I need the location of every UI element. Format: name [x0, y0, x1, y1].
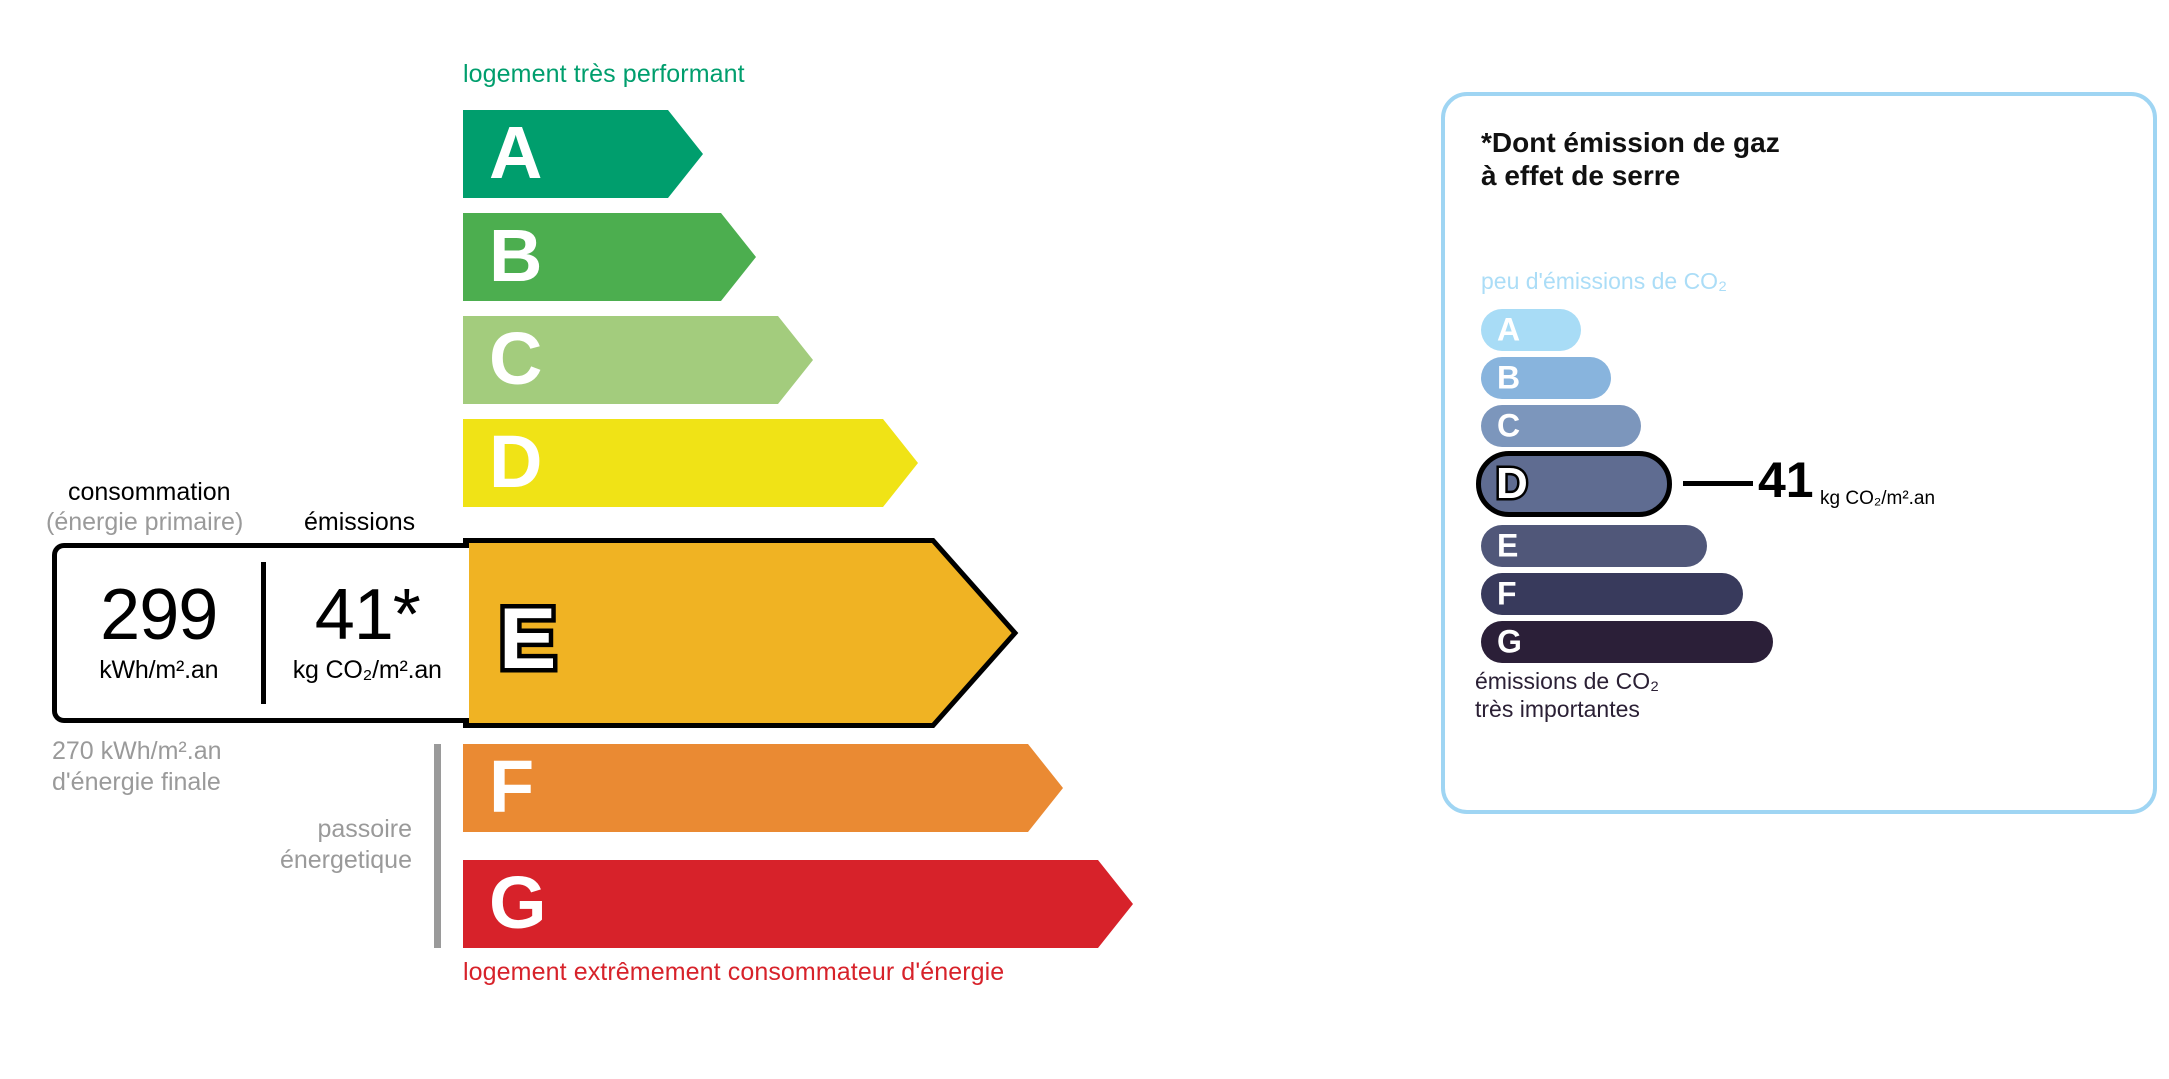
- passoire-vertical-rule: [434, 744, 441, 948]
- co2-band-b-letter: B: [1497, 360, 1520, 397]
- energy-band-b-shape: B: [463, 213, 756, 301]
- co2-band-c: C: [1481, 405, 1641, 447]
- emissions-label: émissions: [304, 508, 415, 537]
- energy-band-c: C: [463, 316, 813, 404]
- co2-value: 41: [1758, 455, 1814, 505]
- energy-band-b: B: [463, 213, 756, 301]
- passoire-line-2: énergetique: [180, 845, 412, 876]
- energy-band-d-shape: D: [463, 419, 918, 507]
- energy-band-b-letter: B: [489, 214, 542, 297]
- co2-band-a: A: [1481, 309, 1581, 351]
- consumption-value: 299: [100, 581, 217, 650]
- co2-band-a-letter: A: [1497, 312, 1520, 349]
- co2-top-caption: peu d'émissions de CO₂: [1481, 268, 1727, 295]
- emissions-value: 41*: [315, 581, 420, 650]
- co2-panel: *Dont émission de gaz à effet de serre p…: [1441, 92, 2157, 814]
- energy-band-a: A: [463, 110, 703, 198]
- final-energy-note: 270 kWh/m².an d'énergie finale: [52, 736, 222, 797]
- energy-band-f-letter: F: [489, 745, 534, 828]
- co2-bottom-caption: émissions de CO₂ très importantes: [1475, 668, 1659, 723]
- co2-band-e: E: [1481, 525, 1707, 567]
- co2-band-f: F: [1481, 573, 1743, 615]
- co2-band-f-bar: [1481, 573, 1743, 615]
- co2-panel-title: *Dont émission de gaz à effet de serre: [1481, 126, 1780, 192]
- co2-band-c-letter: C: [1497, 408, 1520, 445]
- energy-band-d-letter: D: [489, 420, 542, 503]
- energy-top-caption: logement très performant: [463, 60, 745, 89]
- co2-band-b: B: [1481, 357, 1611, 399]
- energy-band-g: G: [463, 860, 1133, 948]
- energy-performance-chart: logement très performant A B C D E: [0, 0, 1400, 1079]
- energy-band-e-selected: E: [463, 538, 1018, 728]
- consumption-sublabel: (énergie primaire): [46, 508, 243, 537]
- co2-title-line-2: à effet de serre: [1481, 159, 1780, 192]
- energy-band-g-shape: G: [463, 860, 1133, 948]
- energy-band-f: F: [463, 744, 1063, 832]
- emissions-value-cell: 41* kg CO₂/m².an: [266, 548, 470, 718]
- co2-band-g-letter: G: [1497, 624, 1522, 661]
- energy-band-a-shape: A: [463, 110, 703, 198]
- co2-band-d-selected: D: [1476, 451, 1672, 517]
- co2-bottom-caption-line-2: très importantes: [1475, 696, 1659, 724]
- co2-band-e-letter: E: [1497, 528, 1518, 565]
- co2-value-unit: kg CO₂/m².an: [1820, 488, 1935, 510]
- co2-leader-line: [1683, 481, 1753, 486]
- energy-band-c-letter: C: [489, 317, 542, 400]
- final-energy-value: 270 kWh/m².an: [52, 736, 222, 767]
- consumption-value-cell: 299 kWh/m².an: [57, 548, 261, 718]
- co2-band-d-letter: D: [1496, 459, 1528, 509]
- emissions-unit: kg CO₂/m².an: [293, 656, 442, 685]
- co2-band-g: G: [1481, 621, 1773, 663]
- energy-bottom-caption: logement extrêmement consommateur d'éner…: [463, 958, 1004, 987]
- energy-band-c-shape: C: [463, 316, 813, 404]
- co2-band-g-bar: [1481, 621, 1773, 663]
- co2-band-f-letter: F: [1497, 576, 1517, 613]
- energy-band-d: D: [463, 419, 918, 507]
- final-energy-text: d'énergie finale: [52, 767, 222, 798]
- energy-value-box: 299 kWh/m².an 41* kg CO₂/m².an: [52, 543, 469, 723]
- energy-band-g-letter: G: [489, 861, 547, 944]
- energy-band-a-letter: A: [489, 111, 542, 194]
- energy-band-f-shape: F: [463, 744, 1063, 832]
- co2-title-line-1: *Dont émission de gaz: [1481, 126, 1780, 159]
- co2-bottom-caption-line-1: émissions de CO₂: [1475, 668, 1659, 696]
- energy-band-e-letter: E: [499, 591, 556, 687]
- passoire-note: passoire énergetique: [180, 814, 412, 875]
- consumption-label: consommation: [68, 478, 231, 507]
- co2-band-a-bar: [1481, 309, 1581, 351]
- consumption-unit: kWh/m².an: [99, 656, 218, 685]
- passoire-line-1: passoire: [180, 814, 412, 845]
- energy-band-e-shape: E: [463, 538, 1018, 728]
